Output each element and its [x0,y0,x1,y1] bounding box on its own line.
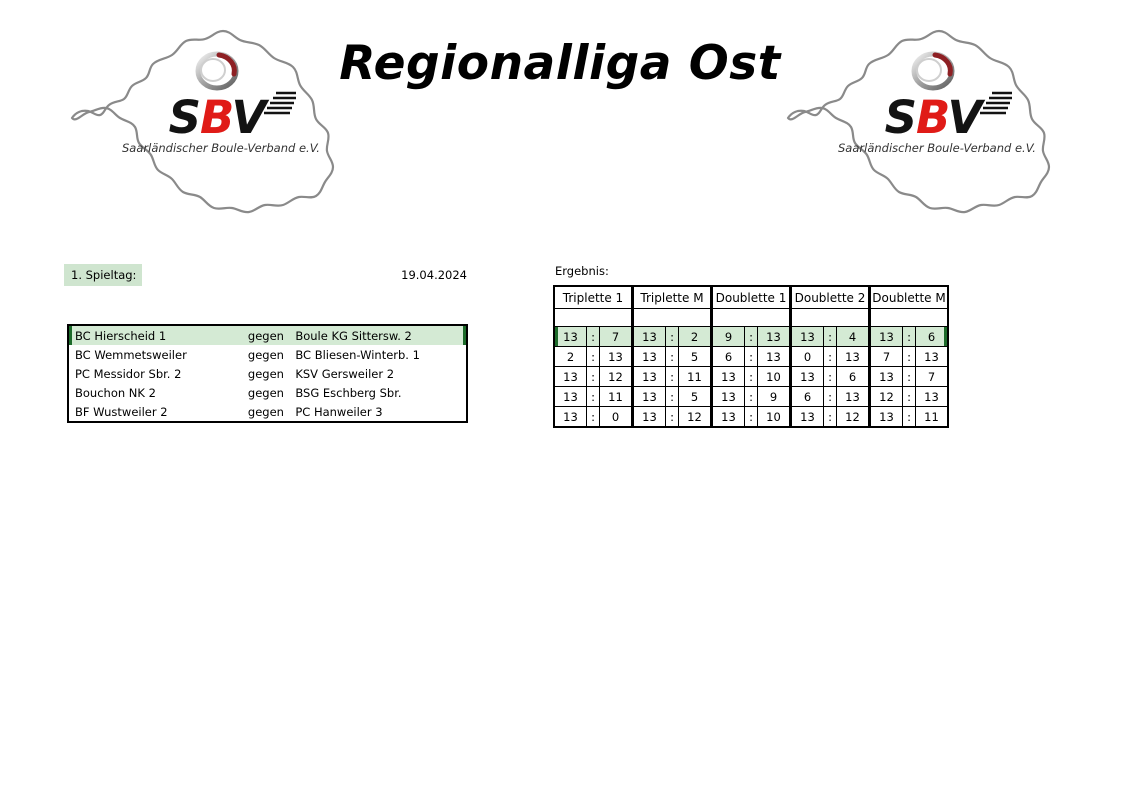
result-score-away: 5 [679,387,712,407]
result-score-away: 10 [758,367,791,387]
result-score-separator: : [745,387,758,407]
result-score-away: 0 [600,407,633,428]
sbv-logo-right: SBV Saarländischer Boule-Verband e.V. [778,22,1074,222]
result-score-away: 12 [837,407,870,428]
sbv-letters: SBV [122,93,312,143]
result-score-separator: : [587,367,600,387]
page-title: Regionalliga Ost [330,36,790,91]
table-row: BF Wustweiler 2gegenPC Hanweiler 3 [68,402,467,422]
results-group-header: Triplette M [633,286,712,309]
result-score-home: 13 [554,407,587,428]
fixture-home-team: Bouchon NK 2 [68,383,248,402]
result-score-home: 13 [633,347,666,367]
result-score-home: 13 [554,327,587,347]
result-score-separator: : [587,407,600,428]
result-score-separator: : [666,347,679,367]
fixture-home-team: BC Hierscheid 1 [68,325,248,345]
result-score-separator: : [666,387,679,407]
speed-lines-icon [972,88,1012,116]
result-score-away: 12 [600,367,633,387]
result-score-home: 13 [712,387,745,407]
result-score-separator: : [903,327,916,347]
result-score-home: 13 [870,367,903,387]
result-score-home: 12 [870,387,903,407]
result-score-home: 13 [712,367,745,387]
fixture-home-team: PC Messidor Sbr. 2 [68,364,248,383]
result-score-separator: : [903,367,916,387]
result-score-away: 5 [679,347,712,367]
sbv-wordmark: SBV Saarländischer Boule-Verband e.V. [838,50,1028,175]
result-score-away: 11 [916,407,949,428]
result-score-home: 6 [712,347,745,367]
sbv-wordmark: SBV Saarländischer Boule-Verband e.V. [122,50,312,175]
result-score-home: 7 [870,347,903,367]
fixture-versus-label: gegen [248,325,295,345]
result-score-away: 9 [758,387,791,407]
result-score-away: 11 [600,387,633,407]
fixture-versus-label: gegen [248,383,295,402]
result-score-away: 6 [916,327,949,347]
speed-lines-icon [256,88,296,116]
result-score-separator: : [666,367,679,387]
results-spacer-cell [791,309,870,327]
results-table-body: Triplette 1Triplette MDoublette 1Doublet… [554,286,948,427]
result-score-away: 10 [758,407,791,428]
sbv-letter-b: B [200,91,231,144]
matchday-date: 19.04.2024 [330,264,467,286]
results-spacer-cell [870,309,949,327]
matchday-badge: 1. Spieltag: [64,264,142,286]
result-score-away: 13 [758,347,791,367]
table-row: Bouchon NK 2gegenBSG Eschberg Sbr. [68,383,467,402]
sbv-letter-s: S [169,91,200,144]
table-row: 13:1113:513:96:1312:13 [554,387,948,407]
result-score-home: 13 [712,407,745,428]
fixture-away-team: PC Hanweiler 3 [295,402,467,422]
sbv-letters: SBV [838,93,1028,143]
result-score-away: 13 [837,347,870,367]
result-score-home: 9 [712,327,745,347]
result-score-away: 13 [758,327,791,347]
result-score-home: 6 [791,387,824,407]
results-spacer-cell [633,309,712,327]
result-score-home: 13 [791,367,824,387]
sbv-logo-left: SBV Saarländischer Boule-Verband e.V. [62,22,358,222]
results-group-header: Triplette 1 [554,286,633,309]
result-score-separator: : [666,407,679,428]
result-score-away: 2 [679,327,712,347]
result-score-home: 2 [554,347,587,367]
result-score-away: 13 [600,347,633,367]
result-score-separator: : [824,387,837,407]
result-score-separator: : [745,367,758,387]
header-band: SBV Saarländischer Boule-Verband e.V. Re… [0,0,1123,230]
result-score-away: 13 [916,347,949,367]
result-score-home: 13 [633,387,666,407]
boule-ball-icon [194,50,240,92]
result-score-separator: : [824,347,837,367]
result-score-home: 13 [791,407,824,428]
result-score-away: 7 [600,327,633,347]
result-score-away: 4 [837,327,870,347]
fixture-versus-label: gegen [248,345,295,364]
result-score-away: 6 [837,367,870,387]
fixture-away-team: BC Bliesen-Winterb. 1 [295,345,467,364]
result-score-separator: : [824,407,837,428]
result-score-away: 11 [679,367,712,387]
table-row: BC Hierscheid 1gegenBoule KG Sittersw. 2 [68,325,467,345]
result-score-separator: : [824,367,837,387]
result-score-separator: : [824,327,837,347]
results-group-header: Doublette 1 [712,286,791,309]
fixture-away-team: Boule KG Sittersw. 2 [295,325,467,345]
table-row: PC Messidor Sbr. 2gegenKSV Gersweiler 2 [68,364,467,383]
table-row: 13:1213:1113:1013:613:7 [554,367,948,387]
result-score-separator: : [903,347,916,367]
results-header-row: Triplette 1Triplette MDoublette 1Doublet… [554,286,948,309]
result-score-separator: : [745,347,758,367]
result-score-separator: : [587,387,600,407]
sbv-letter-b: B [916,91,947,144]
result-score-away: 13 [837,387,870,407]
result-score-separator: : [587,347,600,367]
fixture-home-team: BC Wemmetsweiler [68,345,248,364]
result-score-home: 13 [791,327,824,347]
result-score-separator: : [903,387,916,407]
table-row: 2:1313:56:130:137:13 [554,347,948,367]
fixtures-table: BC Hierscheid 1gegenBoule KG Sittersw. 2… [67,324,468,423]
fixtures-table-body: BC Hierscheid 1gegenBoule KG Sittersw. 2… [68,325,467,422]
result-score-home: 0 [791,347,824,367]
table-row: 13:013:1213:1013:1213:11 [554,407,948,428]
boule-ball-icon [910,50,956,92]
result-score-separator: : [745,407,758,428]
table-row: 13:713:29:1313:413:6 [554,327,948,347]
result-score-home: 13 [870,327,903,347]
result-score-separator: : [666,327,679,347]
fixture-away-team: BSG Eschberg Sbr. [295,383,467,402]
table-row: BC WemmetsweilergegenBC Bliesen-Winterb.… [68,345,467,364]
fixture-versus-label: gegen [248,364,295,383]
result-score-separator: : [587,327,600,347]
result-score-home: 13 [633,367,666,387]
results-spacer-row [554,309,948,327]
sbv-letter-s: S [885,91,916,144]
result-score-separator: : [745,327,758,347]
result-score-home: 13 [870,407,903,428]
result-score-home: 13 [633,407,666,428]
result-score-home: 13 [554,387,587,407]
fixture-away-team: KSV Gersweiler 2 [295,364,467,383]
results-label: Ergebnis: [555,264,609,278]
results-spacer-cell [712,309,791,327]
results-table: Triplette 1Triplette MDoublette 1Doublet… [553,285,949,428]
result-score-home: 13 [554,367,587,387]
result-score-separator: : [903,407,916,428]
result-score-away: 13 [916,387,949,407]
result-score-home: 13 [633,327,666,347]
fixture-home-team: BF Wustweiler 2 [68,402,248,422]
fixture-versus-label: gegen [248,402,295,422]
results-spacer-cell [554,309,633,327]
results-group-header: Doublette M [870,286,949,309]
results-group-header: Doublette 2 [791,286,870,309]
result-score-away: 7 [916,367,949,387]
result-score-away: 12 [679,407,712,428]
